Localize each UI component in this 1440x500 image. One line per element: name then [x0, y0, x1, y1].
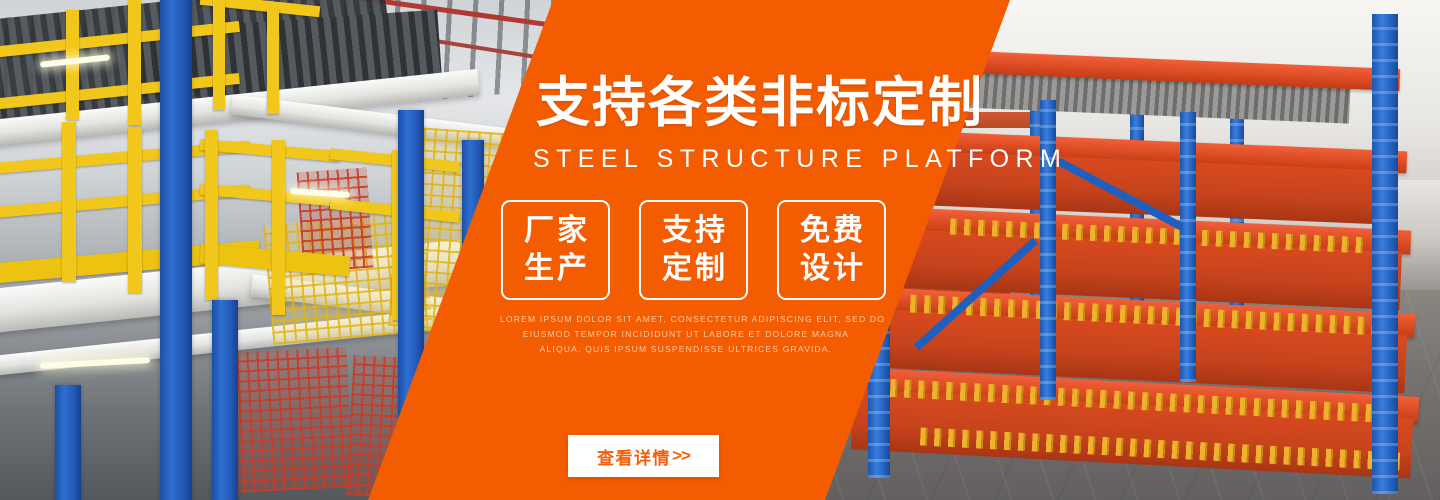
badge-line-1: 免费 — [797, 212, 866, 250]
feature-badge-list: 厂家 生产 支持 定制 免费 设计 — [501, 200, 886, 300]
promo-banner: 支持各类非标定制 STEEL STRUCTURE PLATFORM 厂家 生产 … — [0, 0, 1440, 500]
page-title: 支持各类非标定制 — [536, 76, 984, 130]
badge-line-2: 生产 — [521, 250, 590, 288]
badge-line-2: 定制 — [659, 250, 728, 288]
badge-free-design: 免费 设计 — [777, 200, 886, 300]
view-details-button[interactable]: 查看详情 >> — [568, 435, 719, 477]
badge-manufacturer-production: 厂家 生产 — [501, 200, 610, 300]
chevron-right-double-icon: >> — [672, 446, 690, 466]
subtitle: STEEL STRUCTURE PLATFORM — [533, 145, 1067, 174]
badge-line-1: 厂家 — [521, 212, 590, 250]
badge-supports-customization: 支持 定制 — [639, 200, 748, 300]
badge-line-1: 支持 — [659, 212, 728, 250]
view-details-label: 查看详情 — [597, 444, 671, 469]
description-line-1: LOREM IPSUM DOLOR SIT AMET, CONSECTETUR … — [500, 312, 872, 327]
badge-line-2: 设计 — [797, 250, 866, 288]
description-line-3: ALIQUA. QUIS IPSUM SUSPENDISSE ULTRICES … — [500, 342, 872, 357]
banner-content: 支持各类非标定制 STEEL STRUCTURE PLATFORM 厂家 生产 … — [0, 0, 1440, 500]
description-text: LOREM IPSUM DOLOR SIT AMET, CONSECTETUR … — [500, 312, 872, 357]
description-line-2: EIUSMOD TEMPOR INCIDIDUNT UT LABORE ET D… — [500, 327, 872, 342]
